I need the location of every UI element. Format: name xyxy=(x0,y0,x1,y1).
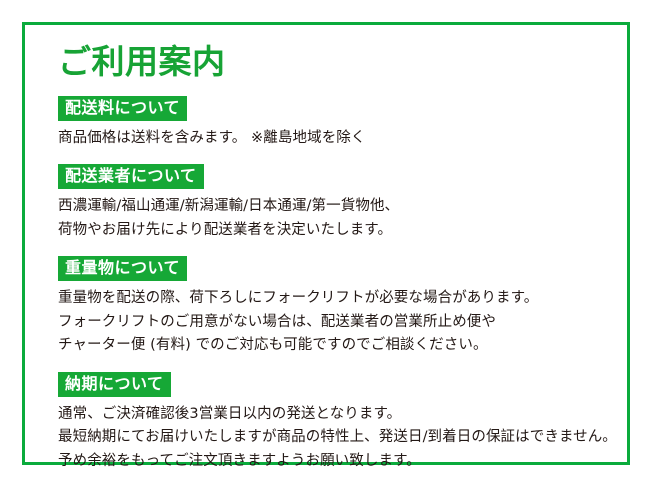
body-line: 重量物を配送の際、荷下ろしにフォークリフトが必要な場合があります。 xyxy=(58,287,615,310)
body-line: 最短納期にてお届けいたしますが商品の特性上、発送日/到着日の保証はできません。 xyxy=(58,426,615,449)
body-line: 予め余裕をもってご注文頂きますようお願い致します。 xyxy=(58,450,615,473)
body-line: 通常、ご決済確認後3営業日以内の発送となります。 xyxy=(58,403,615,426)
section-heading-badge: 重量物について xyxy=(58,256,187,281)
body-line: 荷物やお届け先により配送業者を決定いたします。 xyxy=(58,219,615,242)
section-heading-badge: 納期について xyxy=(58,372,171,397)
body-line: 西濃運輸/福山通運/新潟運輸/日本通運/第一貨物他、 xyxy=(58,195,615,218)
section-body: 通常、ご決済確認後3営業日以内の発送となります。 最短納期にてお届けいたしますが… xyxy=(58,403,615,473)
guide-panel-content: ご利用案内 配送料について 商品価格は送料を含みます。 ※離島地域を除く 配送業… xyxy=(58,45,615,473)
guide-panel: ご利用案内 配送料について 商品価格は送料を含みます。 ※離島地域を除く 配送業… xyxy=(22,22,630,465)
section-body: 商品価格は送料を含みます。 ※離島地域を除く xyxy=(58,127,615,150)
section-delivery-time: 納期について 通常、ご決済確認後3営業日以内の発送となります。 最短納期にてお届… xyxy=(58,372,615,473)
section-carriers: 配送業者について 西濃運輸/福山通運/新潟運輸/日本通運/第一貨物他、 荷物やお… xyxy=(58,164,615,242)
body-line: 商品価格は送料を含みます。 ※離島地域を除く xyxy=(58,127,615,150)
section-heading-badge: 配送料について xyxy=(58,96,187,121)
section-heavy-items: 重量物について 重量物を配送の際、荷下ろしにフォークリフトが必要な場合があります… xyxy=(58,256,615,357)
section-body: 西濃運輸/福山通運/新潟運輸/日本通運/第一貨物他、 荷物やお届け先により配送業… xyxy=(58,195,615,242)
section-shipping-fee: 配送料について 商品価格は送料を含みます。 ※離島地域を除く xyxy=(58,96,615,150)
section-heading-badge: 配送業者について xyxy=(58,164,204,189)
page-title: ご利用案内 xyxy=(58,45,615,80)
body-line: フォークリフトのご用意がない場合は、配送業者の営業所止め便や xyxy=(58,311,615,334)
body-line: チャーター便 (有料) でのご対応も可能ですのでご相談ください。 xyxy=(58,334,615,357)
section-body: 重量物を配送の際、荷下ろしにフォークリフトが必要な場合があります。 フォークリフ… xyxy=(58,287,615,357)
